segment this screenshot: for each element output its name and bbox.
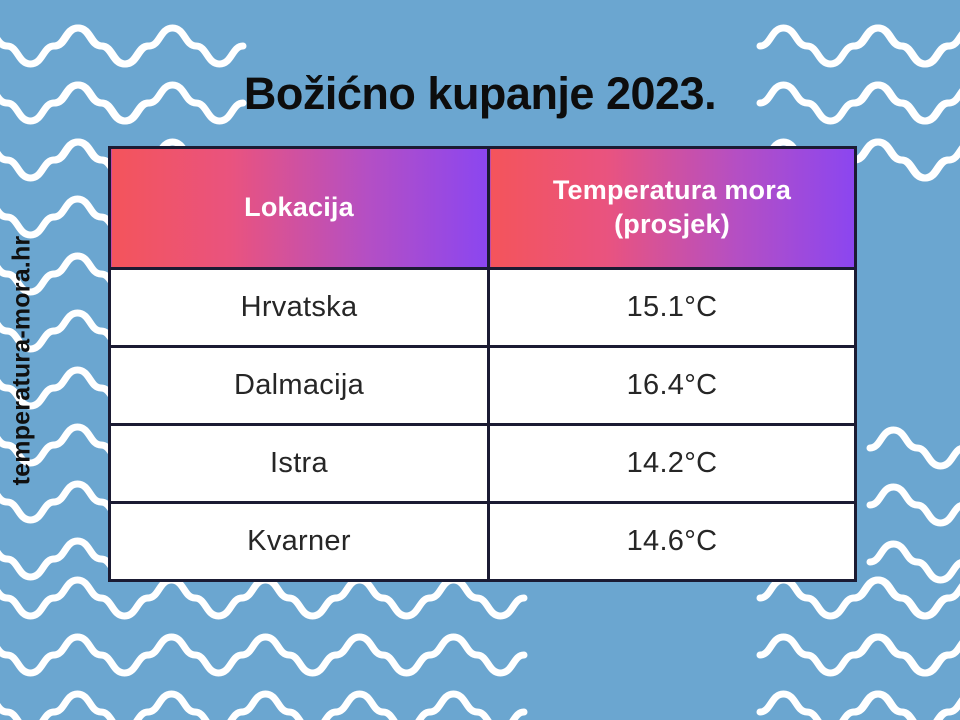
column-header-location: Lokacija <box>110 148 489 269</box>
cell-temperature: 16.4°C <box>489 347 856 425</box>
column-header-temperature-line1: Temperatura mora <box>553 175 791 205</box>
column-header-temperature: Temperatura mora (prosjek) <box>489 148 856 269</box>
column-header-temperature-line2: (prosjek) <box>614 209 730 239</box>
temperature-table: Lokacija Temperatura mora (prosjek) Hrva… <box>108 146 857 582</box>
table-header: Lokacija Temperatura mora (prosjek) <box>110 148 856 269</box>
cell-location: Dalmacija <box>110 347 489 425</box>
temperature-table-container: Lokacija Temperatura mora (prosjek) Hrva… <box>108 146 854 582</box>
poster-canvas: temperatura-mora.hr Božićno kupanje 2023… <box>0 0 960 720</box>
cell-temperature: 14.6°C <box>489 503 856 581</box>
cell-location: Kvarner <box>110 503 489 581</box>
site-watermark-label: temperatura-mora.hr <box>8 235 37 485</box>
table-row: Dalmacija 16.4°C <box>110 347 856 425</box>
table-header-row: Lokacija Temperatura mora (prosjek) <box>110 148 856 269</box>
cell-temperature: 15.1°C <box>489 269 856 347</box>
table-row: Hrvatska 15.1°C <box>110 269 856 347</box>
table-row: Kvarner 14.6°C <box>110 503 856 581</box>
wave-group-right-band <box>870 430 960 580</box>
cell-temperature: 14.2°C <box>489 425 856 503</box>
cell-location: Hrvatska <box>110 269 489 347</box>
table-row: Istra 14.2°C <box>110 425 856 503</box>
cell-location: Istra <box>110 425 489 503</box>
table-body: Hrvatska 15.1°C Dalmacija 16.4°C Istra 1… <box>110 269 856 581</box>
wave-group-bottom <box>0 580 960 720</box>
page-title: Božićno kupanje 2023. <box>0 68 960 120</box>
